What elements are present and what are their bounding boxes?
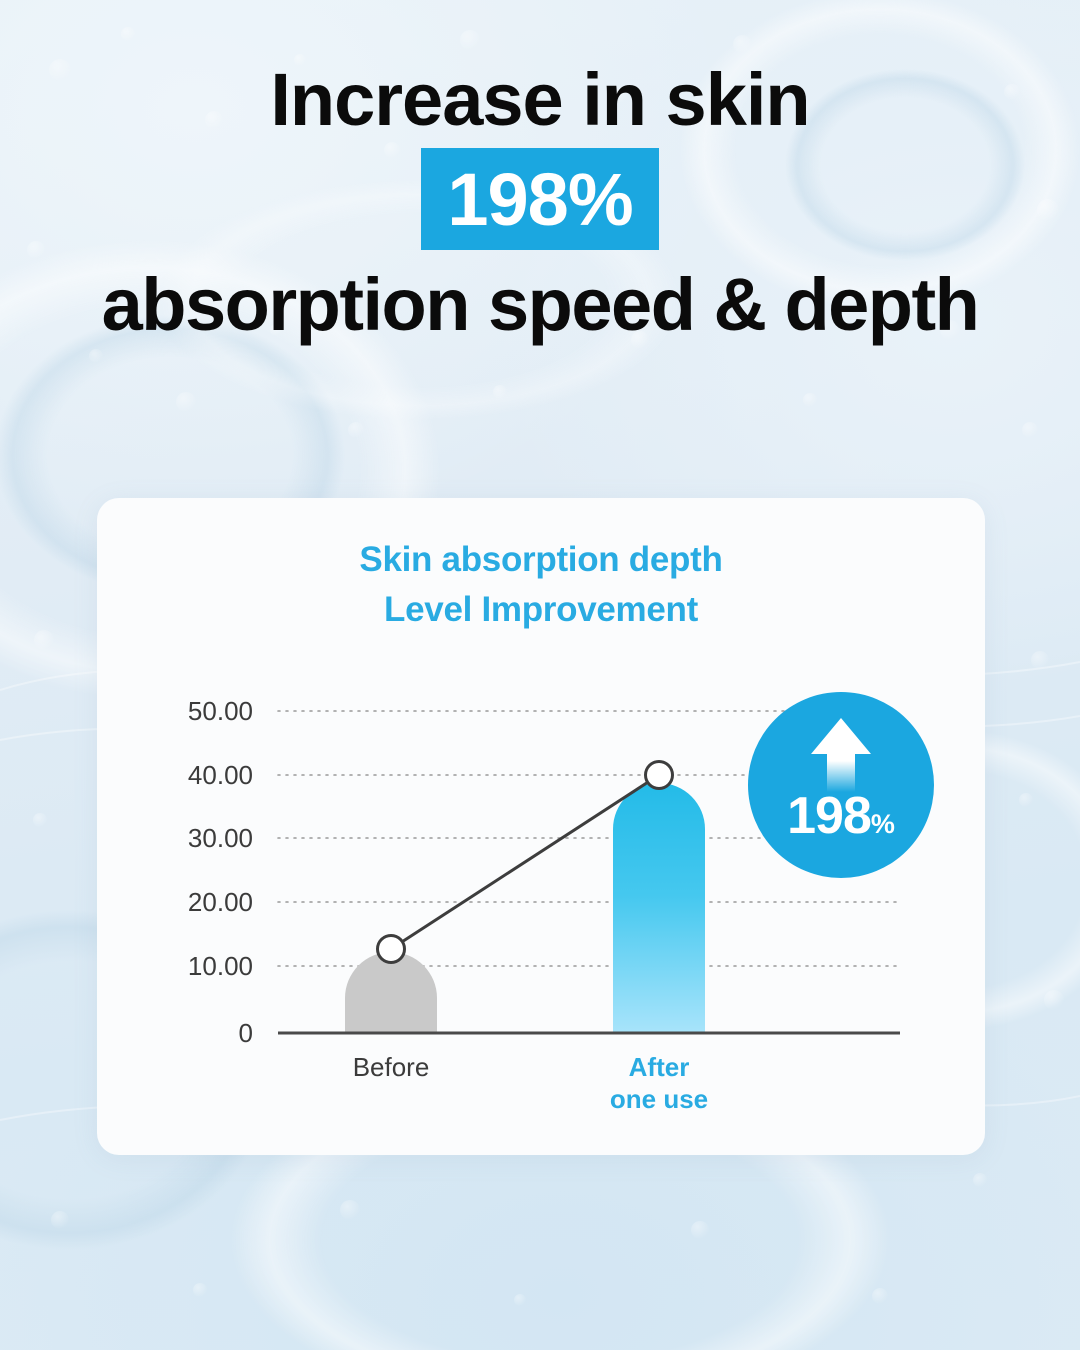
x-label-after-line-1: After bbox=[559, 1051, 759, 1083]
headline: Increase in skin 198% absorption speed &… bbox=[0, 56, 1080, 348]
x-label-before-line-1: Before bbox=[291, 1051, 491, 1083]
y-tick-40: 40.00 bbox=[133, 762, 253, 788]
bar-before bbox=[345, 952, 437, 1033]
headline-highlight-wrap: 198% bbox=[0, 148, 1080, 250]
headline-line-1: Increase in skin bbox=[0, 56, 1080, 144]
x-label-after: After one use bbox=[559, 1051, 759, 1115]
bar-after bbox=[613, 783, 705, 1033]
y-tick-50: 50.00 bbox=[133, 698, 253, 724]
y-tick-20: 20.00 bbox=[133, 889, 253, 915]
data-point-before bbox=[378, 936, 405, 963]
improvement-badge: 198% bbox=[748, 692, 934, 878]
headline-line-3: absorption speed & depth bbox=[0, 262, 1080, 348]
y-tick-30: 30.00 bbox=[133, 825, 253, 851]
y-tick-0: 0 bbox=[133, 1020, 253, 1046]
y-tick-10: 10.00 bbox=[133, 953, 253, 979]
badge-unit: % bbox=[871, 809, 895, 839]
data-point-after bbox=[646, 762, 673, 789]
headline-percent-highlight: 198% bbox=[421, 148, 658, 250]
x-label-after-line-2: one use bbox=[559, 1083, 759, 1115]
badge-value-wrap: 198% bbox=[748, 788, 934, 852]
badge-value: 198 bbox=[787, 787, 871, 845]
x-label-before: Before bbox=[291, 1051, 491, 1083]
